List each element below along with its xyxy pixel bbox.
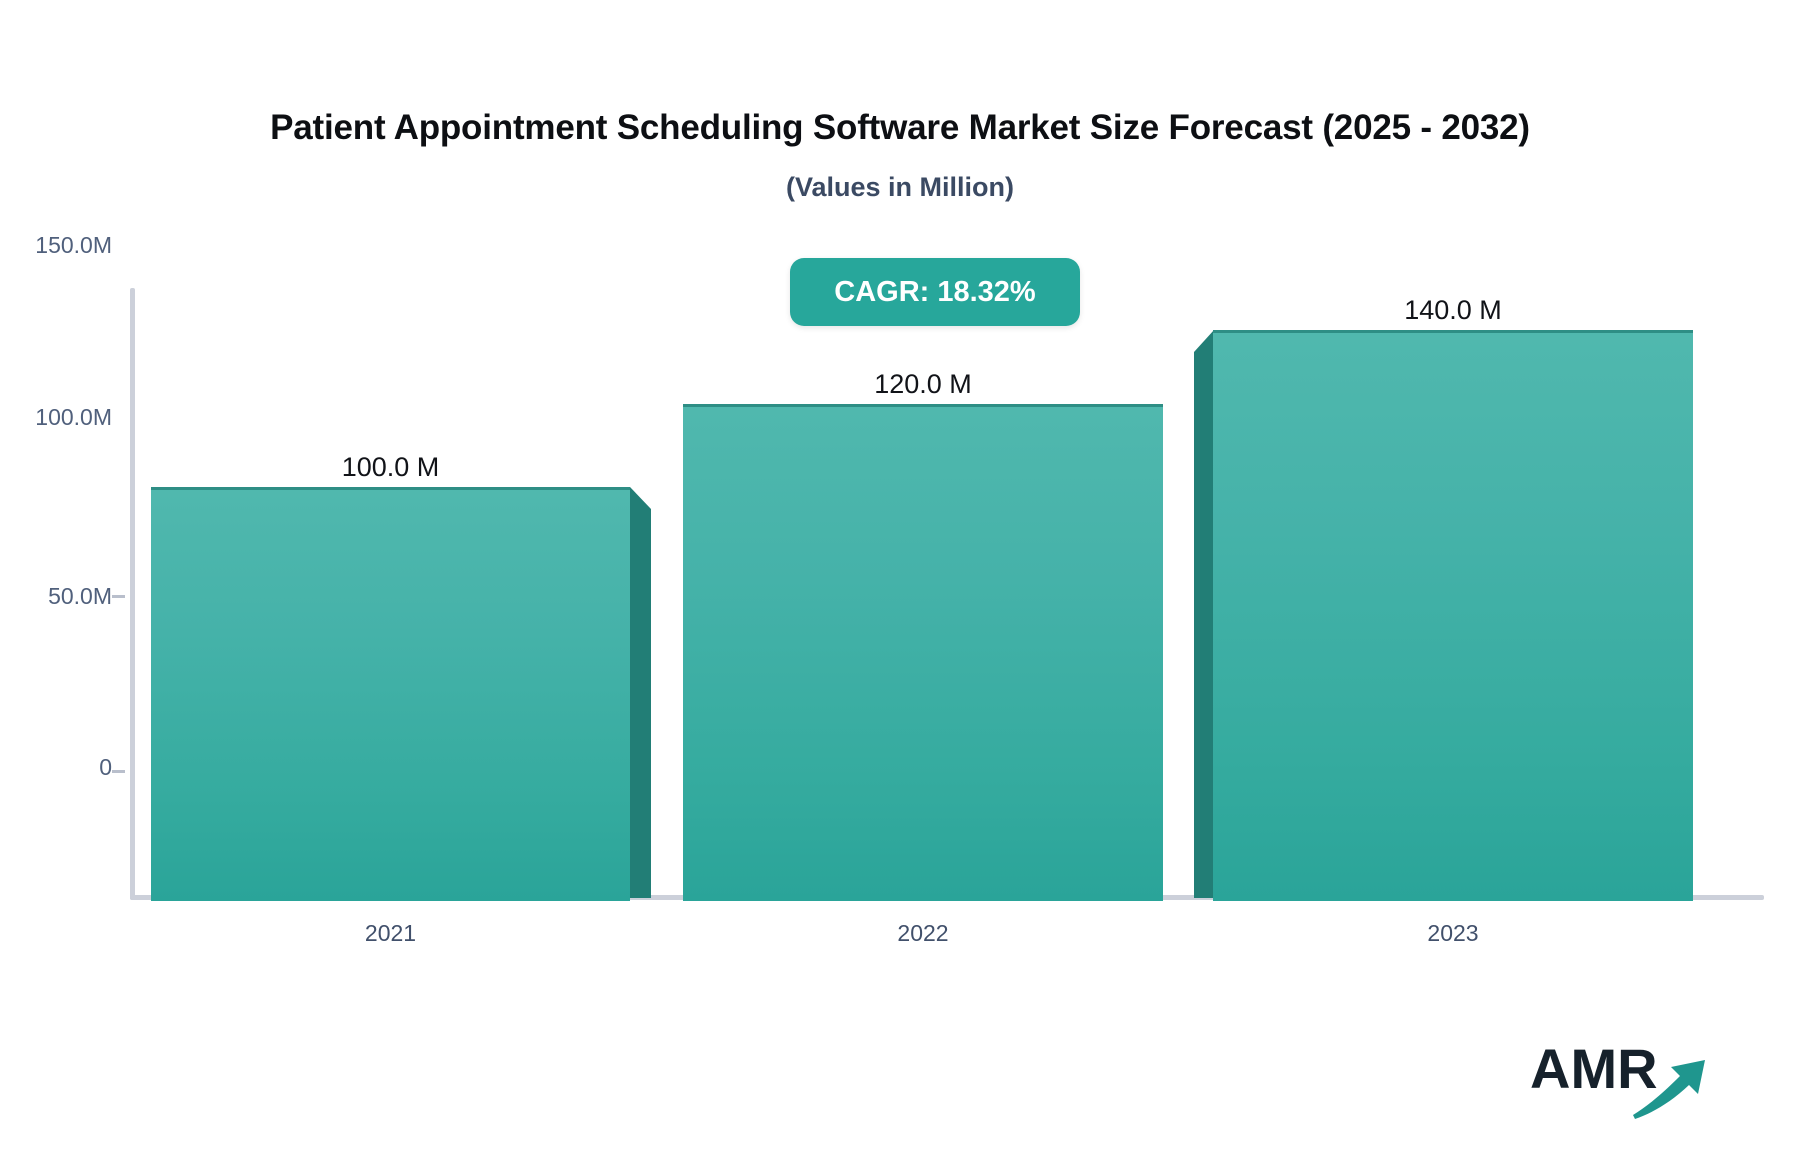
- amr-logo-text: AMR: [1530, 1037, 1658, 1100]
- bar-2023-side: [1194, 330, 1214, 898]
- bar-2021-side: [630, 487, 651, 898]
- plot-area: 150.0M 100.0M 50.0M 0 100.0 M 2021 120.0…: [0, 0, 1800, 1156]
- chart-container: Patient Appointment Scheduling Software …: [0, 0, 1800, 1156]
- bar-value-label-2021: 100.0 M: [151, 452, 630, 483]
- y-tick-label-150: 150.0M: [0, 232, 112, 259]
- bar-2023[interactable]: [1213, 330, 1693, 901]
- x-category-label-2022: 2022: [683, 920, 1163, 947]
- y-tick-mark-0: [112, 770, 125, 773]
- y-tick-label-50: 50.0M: [0, 583, 112, 610]
- x-category-label-2023: 2023: [1213, 920, 1693, 947]
- y-tick-label-100: 100.0M: [0, 404, 112, 431]
- bar-2022[interactable]: [683, 404, 1163, 901]
- bar-value-label-2022: 120.0 M: [683, 369, 1163, 400]
- y-tick-mark-50: [112, 595, 125, 598]
- bar-2021[interactable]: [151, 487, 630, 901]
- x-category-label-2021: 2021: [151, 920, 630, 947]
- amr-logo: AMR: [1530, 1030, 1720, 1120]
- cagr-badge: CAGR: 18.32%: [790, 258, 1080, 326]
- y-axis-line: [130, 288, 135, 900]
- bar-value-label-2023: 140.0 M: [1213, 295, 1693, 326]
- y-tick-label-0: 0: [0, 754, 112, 781]
